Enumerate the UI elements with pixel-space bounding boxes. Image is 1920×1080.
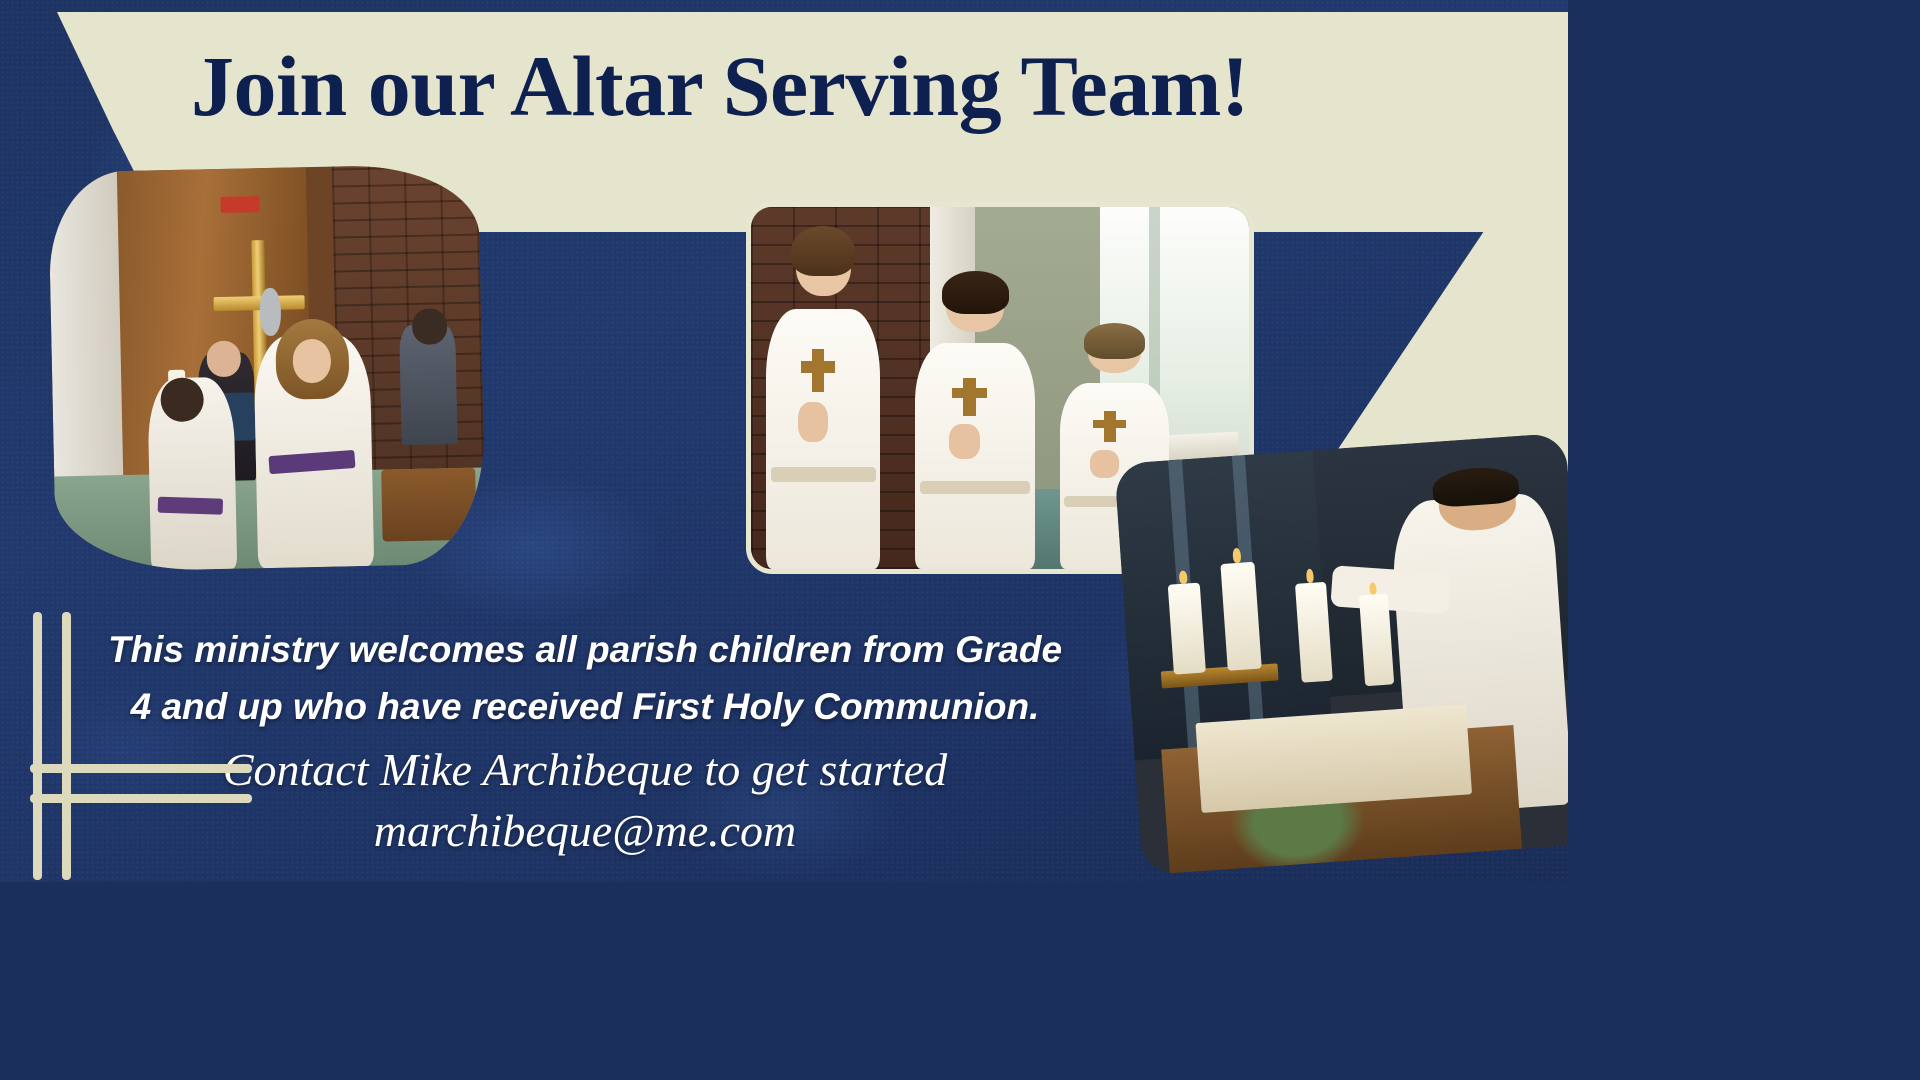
ministry-description: This ministry welcomes all parish childr…	[70, 622, 1100, 735]
purple-sash-one	[158, 497, 223, 515]
adult-face	[206, 341, 241, 378]
candle-one	[1168, 582, 1206, 675]
server-head-one	[160, 377, 204, 422]
folded-hands	[798, 402, 828, 442]
wooden-cross-icon	[1104, 411, 1116, 442]
green-plant	[1220, 801, 1378, 875]
contact-name-line: Contact Mike Archibeque to get started	[90, 740, 1080, 801]
deco-vertical-line-one	[33, 612, 42, 880]
wooden-cross-icon	[812, 349, 825, 392]
folded-hands	[949, 424, 980, 459]
server-hair	[791, 226, 855, 276]
rope-cincture	[920, 481, 1030, 494]
ministry-description-line-2: 4 and up who have received First Holy Co…	[70, 679, 1100, 736]
server-hair	[1084, 323, 1145, 359]
photo-processional	[48, 164, 486, 573]
wooden-cross-icon	[963, 378, 976, 416]
poster-canvas: Join our Altar Serving Team!	[0, 0, 1568, 882]
photo-candle-lighting	[1114, 433, 1568, 876]
ministry-description-line-1: This ministry welcomes all parish childr…	[70, 622, 1100, 679]
rope-cincture	[771, 467, 876, 482]
altar-server-one	[766, 236, 881, 569]
contact-block: Contact Mike Archibeque to get started m…	[90, 740, 1080, 861]
altar-cloth	[1196, 704, 1473, 813]
altar-server-two	[915, 279, 1035, 569]
wooden-pew	[381, 468, 477, 542]
photo-candle-lighting-scene	[1114, 433, 1568, 876]
photo-processional-scene	[48, 164, 486, 573]
page-title: Join our Altar Serving Team!	[0, 36, 1440, 136]
man-head	[412, 308, 447, 345]
crucifix-corpus	[259, 288, 282, 336]
exit-sign-icon	[220, 196, 259, 213]
server-arm	[1330, 565, 1450, 614]
server-hair	[942, 271, 1009, 314]
contact-email[interactable]: marchibeque@me.com	[90, 801, 1080, 862]
